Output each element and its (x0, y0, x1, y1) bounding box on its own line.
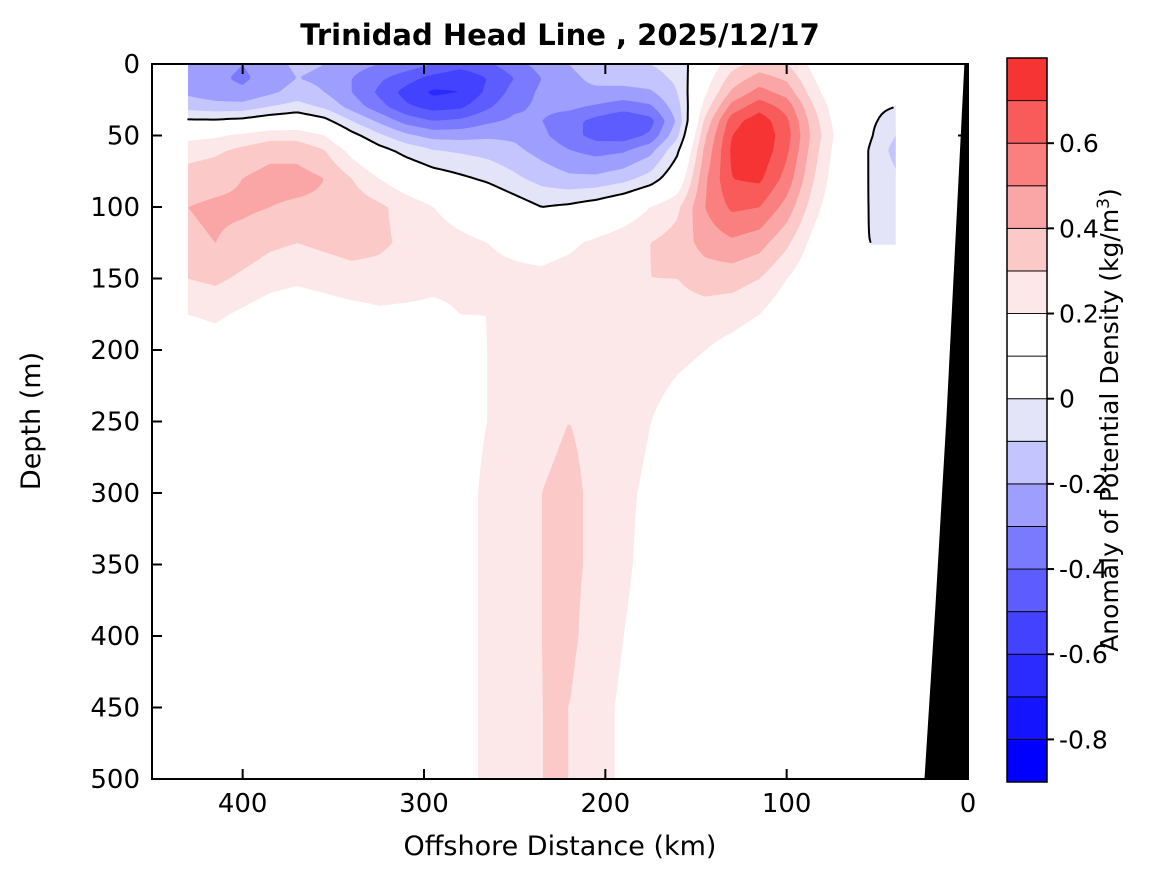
x-tick-label: 100 (762, 789, 812, 819)
x-axis-label: Offshore Distance (km) (404, 831, 717, 862)
colorbar-swatch (1007, 143, 1047, 186)
figure-root: Trinidad Head Line , 2025/12/17 05010015… (0, 0, 1167, 875)
colorbar-tick-label: 0 (1059, 385, 1075, 414)
colorbar-swatch (1007, 526, 1047, 569)
colorbar-tick-label: -0.8 (1059, 725, 1108, 754)
colorbar-swatch (1007, 399, 1047, 442)
colorbar-swatch (1007, 569, 1047, 612)
colorbar-swatch (1007, 356, 1047, 399)
colorbar-swatch (1007, 228, 1047, 271)
colorbar-swatch (1007, 186, 1047, 229)
colorbar-swatch (1007, 697, 1047, 740)
colorbar-label-end: ) (1095, 188, 1124, 198)
x-tick-label: 0 (960, 789, 977, 819)
y-tick-label: 50 (107, 122, 140, 152)
y-tick-label: 500 (90, 765, 140, 795)
plot-canvas: 050100150200250300350400450500 400300200… (0, 0, 1167, 875)
colorbar-label-superscript: 3 (1094, 198, 1114, 209)
colorbar-swatch (1007, 271, 1047, 314)
colorbar-tick-label: 0.2 (1059, 300, 1099, 329)
y-tick-label: 250 (90, 408, 140, 438)
colorbar-label-main: Anomaly of Potential Density (kg/m (1095, 209, 1124, 652)
colorbar (1007, 58, 1047, 782)
y-tick-label: 200 (90, 336, 140, 366)
x-tick-label: 200 (581, 789, 631, 819)
colorbar-swatch (1007, 612, 1047, 655)
colorbar-label: Anomaly of Potential Density (kg/m3) (1094, 188, 1124, 652)
colorbar-swatch (1007, 441, 1047, 484)
colorbar-swatch (1007, 654, 1047, 697)
colorbar-tick-label: 0.4 (1059, 214, 1099, 243)
colorbar-swatch (1007, 484, 1047, 527)
y-tick-label: 150 (90, 265, 140, 295)
y-tick-label: 450 (90, 694, 140, 724)
y-tick-label: 100 (90, 193, 140, 223)
colorbar-swatch (1007, 58, 1047, 101)
x-tick-label: 300 (399, 789, 449, 819)
y-tick-label: 350 (90, 551, 140, 581)
y-tick-label: 300 (90, 479, 140, 509)
y-axis-label: Depth (m) (16, 352, 47, 490)
y-tick-label: 0 (123, 50, 140, 80)
colorbar-tick-label: 0.6 (1059, 129, 1099, 158)
x-tick-label: 400 (218, 789, 268, 819)
colorbar-swatch (1007, 101, 1047, 144)
colorbar-swatch (1007, 739, 1047, 782)
contour-fill-layer (188, 64, 895, 779)
y-tick-label: 400 (90, 622, 140, 652)
colorbar-swatch (1007, 314, 1047, 357)
